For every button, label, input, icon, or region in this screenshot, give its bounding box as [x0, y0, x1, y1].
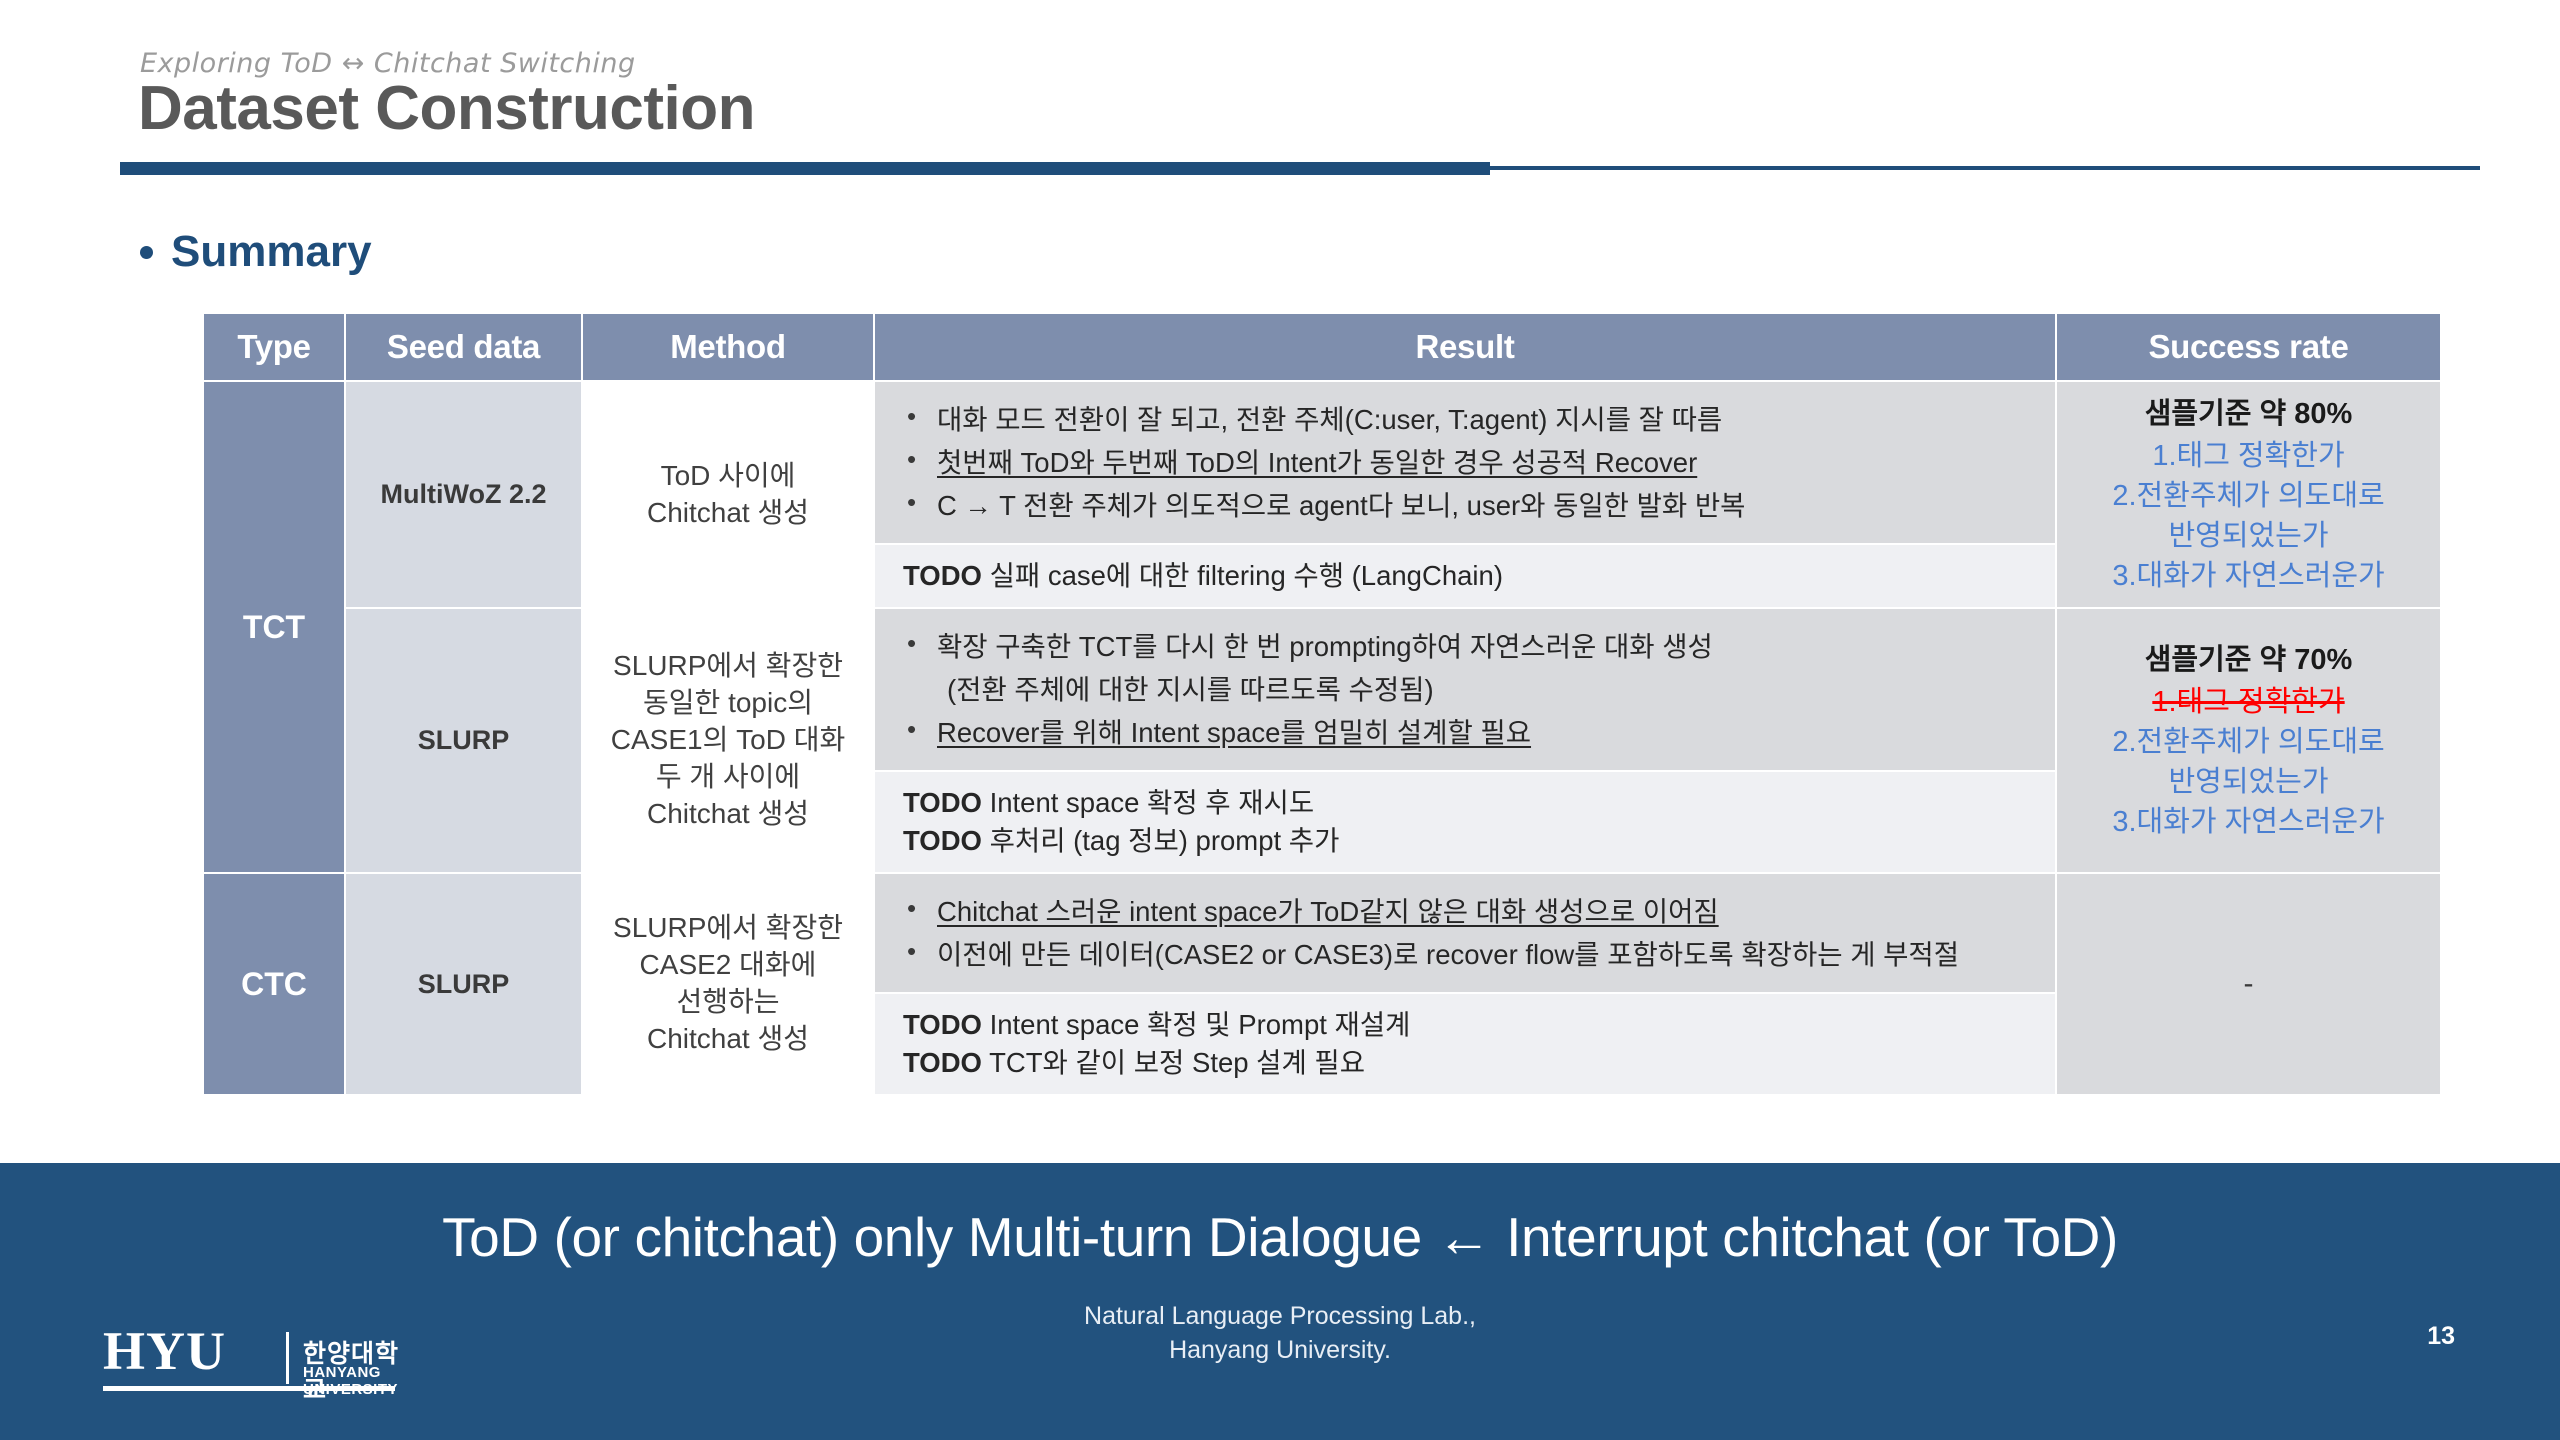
method-line: Chitchat 생성 [583, 796, 873, 833]
method-line: Chitchat 생성 [583, 495, 873, 532]
page-number: 13 [2427, 1322, 2455, 1351]
todo-keyword: TODO [903, 1047, 982, 1078]
todo-keyword: TODO [903, 825, 982, 856]
summary-table: Type Seed data Method Result Success rat… [202, 312, 2442, 1096]
hyu-logo-divider [286, 1332, 289, 1384]
result-bullet-text: Chitchat 스러운 intent space가 ToD같지 않은 대화 생… [937, 896, 1719, 927]
todo-keyword: TODO [903, 1009, 982, 1040]
todo-text: Intent space 확정 및 Prompt 재설계 [982, 1009, 1410, 1040]
summary-label: Summary [171, 230, 372, 274]
type-cell: CTC [204, 874, 344, 1094]
summary-heading: Summary [140, 230, 372, 274]
method-line: CASE1의 ToD 대화 [583, 722, 873, 759]
todo-keyword: TODO [903, 787, 982, 818]
result-bullet-text: 이전에 만든 데이터(CASE2 or CASE3)로 recover flow… [937, 939, 1959, 970]
todo-text: 실패 case에 대한 filtering 수행 (LangChain) [982, 560, 1503, 591]
method-line: ToD 사이에 [583, 458, 873, 495]
result-bullet-text: C → T 전환 주체가 의도적으로 agent다 보니, user와 동일한 … [937, 490, 1745, 521]
success-rate-cell: 샘플기준 약 80%1.태그 정확한가2.전환주체가 의도대로반영되었는가3.대… [2057, 382, 2440, 607]
column-header-method: Method [583, 314, 873, 380]
column-header-success-rate: Success rate [2057, 314, 2440, 380]
seed-data-cell: SLURP [346, 609, 581, 872]
column-header-seed-data: Seed data [346, 314, 581, 380]
method-cell: SLURP에서 확장한CASE2 대화에선행하는Chitchat 생성 [583, 874, 873, 1094]
result-bullet-text: 대화 모드 전환이 잘 되고, 전환 주체(C:user, T:agent) 지… [937, 404, 1722, 435]
seed-data-cell: MultiWoZ 2.2 [346, 382, 581, 607]
table-row: CTCSLURPSLURP에서 확장한CASE2 대화에선행하는Chitchat… [204, 874, 2440, 992]
result-bullet-list: 대화 모드 전환이 잘 되고, 전환 주체(C:user, T:agent) 지… [903, 400, 2055, 525]
result-bullet-list: Chitchat 스러운 intent space가 ToD같지 않은 대화 생… [903, 892, 2055, 974]
result-cell: 확장 구축한 TCT를 다시 한 번 prompting하여 자연스러운 대화 … [875, 609, 2055, 770]
result-bullet-text: Recover를 위해 Intent space를 엄밀히 설계할 필요 [937, 717, 1531, 748]
method-line: 두 개 사이에 [583, 759, 873, 796]
todo-keyword: TODO [903, 560, 982, 591]
result-bullet: 첫번째 ToD와 두번째 ToD의 Intent가 동일한 경우 성공적 Rec… [903, 443, 2055, 482]
page-title: Dataset Construction [138, 78, 755, 140]
result-bullet: Recover를 위해 Intent space를 엄밀히 설계할 필요 [903, 713, 2055, 752]
method-cell: SLURP에서 확장한동일한 topic의CASE1의 ToD 대화두 개 사이… [583, 609, 873, 872]
todo-cell: TODO Intent space 확정 후 재시도TODO 후처리 (tag … [875, 772, 2055, 872]
hyu-logo-mark: HYU [103, 1326, 226, 1377]
seed-data-cell: SLURP [346, 874, 581, 1094]
todo-text: TCT와 같이 보정 Step 설계 필요 [982, 1047, 1365, 1078]
result-bullet: C → T 전환 주체가 의도적으로 agent다 보니, user와 동일한 … [903, 486, 2055, 525]
success-rate-item: 2.전환주체가 의도대로 [2063, 476, 2434, 516]
success-rate-item: 1.태그 정확한가 [2063, 682, 2434, 722]
success-rate-cell: 샘플기준 약 70%1.태그 정확한가2.전환주체가 의도대로반영되었는가3.대… [2057, 609, 2440, 872]
method-line: CASE2 대화에 [583, 947, 873, 984]
result-bullet: (전환 주체에 대한 지시를 따르도록 수정됨) [903, 670, 2055, 709]
hyu-logo: HYU 한양대학교 HANYANG UNIVERSITY [103, 1330, 403, 1400]
column-header-result: Result [875, 314, 2055, 380]
result-bullet: Chitchat 스러운 intent space가 ToD같지 않은 대화 생… [903, 892, 2055, 931]
result-bullet: 대화 모드 전환이 잘 되고, 전환 주체(C:user, T:agent) 지… [903, 400, 2055, 439]
success-rate-headline: 샘플기준 약 80% [2063, 394, 2434, 434]
result-bullet-text: (전환 주체에 대한 지시를 따르도록 수정됨) [947, 674, 1434, 705]
table-body: TCTMultiWoZ 2.2ToD 사이에Chitchat 생성대화 모드 전… [204, 382, 2440, 1094]
success-rate-item: 1.태그 정확한가 [2063, 436, 2434, 476]
success-rate-cell: - [2057, 874, 2440, 1094]
result-bullet: 이전에 만든 데이터(CASE2 or CASE3)로 recover flow… [903, 935, 2055, 974]
success-rate-item: 반영되었는가 [2063, 762, 2434, 802]
todo-text: Intent space 확정 후 재시도 [982, 787, 1314, 818]
column-header-type: Type [204, 314, 344, 380]
method-line: Chitchat 생성 [583, 1021, 873, 1058]
todo-text: 후처리 (tag 정보) prompt 추가 [982, 825, 1339, 856]
result-cell: 대화 모드 전환이 잘 되고, 전환 주체(C:user, T:agent) 지… [875, 382, 2055, 543]
success-rate-item: 2.전환주체가 의도대로 [2063, 722, 2434, 762]
success-rate-item: 반영되었는가 [2063, 516, 2434, 556]
method-line: 선행하는 [583, 984, 873, 1021]
todo-cell: TODO 실패 case에 대한 filtering 수행 (LangChain… [875, 545, 2055, 607]
result-bullet-list: 확장 구축한 TCT를 다시 한 번 prompting하여 자연스러운 대화 … [903, 627, 2055, 752]
slide-header: Exploring ToD ↔ Chitchat Switching Datas… [0, 0, 2560, 180]
todo-cell: TODO Intent space 확정 및 Prompt 재설계TODO TC… [875, 994, 2055, 1094]
title-rule-thick [120, 162, 1490, 175]
table-row: TCTMultiWoZ 2.2ToD 사이에Chitchat 생성대화 모드 전… [204, 382, 2440, 543]
method-line: 동일한 topic의 [583, 685, 873, 722]
method-cell: ToD 사이에Chitchat 생성 [583, 382, 873, 607]
hyu-logo-english: HANYANG UNIVERSITY [303, 1364, 403, 1398]
hyu-logo-underline [103, 1386, 395, 1391]
todo-line: TODO TCT와 같이 보정 Step 설계 필요 [903, 1044, 2055, 1082]
result-bullet: 확장 구축한 TCT를 다시 한 번 prompting하여 자연스러운 대화 … [903, 627, 2055, 666]
method-line: SLURP에서 확장한 [583, 648, 873, 685]
todo-line: TODO Intent space 확정 및 Prompt 재설계 [903, 1006, 2055, 1044]
table-row: SLURPSLURP에서 확장한동일한 topic의CASE1의 ToD 대화두… [204, 609, 2440, 770]
todo-line: TODO 실패 case에 대한 filtering 수행 (LangChain… [903, 557, 2055, 595]
success-rate-item: 3.대화가 자연스러운가 [2063, 802, 2434, 842]
todo-line: TODO Intent space 확정 후 재시도 [903, 784, 2055, 822]
banner-text: ToD (or chitchat) only Multi-turn Dialog… [0, 1205, 2560, 1269]
type-cell: TCT [204, 382, 344, 872]
summary-bullet-icon [140, 246, 153, 259]
success-rate-headline: 샘플기준 약 70% [2063, 640, 2434, 680]
result-bullet-text: 첫번째 ToD와 두번째 ToD의 Intent가 동일한 경우 성공적 Rec… [937, 447, 1697, 478]
todo-line: TODO 후처리 (tag 정보) prompt 추가 [903, 822, 2055, 860]
title-rule-thin [1490, 166, 2480, 170]
method-line: SLURP에서 확장한 [583, 910, 873, 947]
table-header-row: Type Seed data Method Result Success rat… [204, 314, 2440, 380]
result-bullet-text: 확장 구축한 TCT를 다시 한 번 prompting하여 자연스러운 대화 … [937, 631, 1713, 662]
result-cell: Chitchat 스러운 intent space가 ToD같지 않은 대화 생… [875, 874, 2055, 992]
footer-lab-line1: Natural Language Processing Lab., [0, 1300, 2560, 1334]
success-rate-item: 3.대화가 자연스러운가 [2063, 556, 2434, 596]
